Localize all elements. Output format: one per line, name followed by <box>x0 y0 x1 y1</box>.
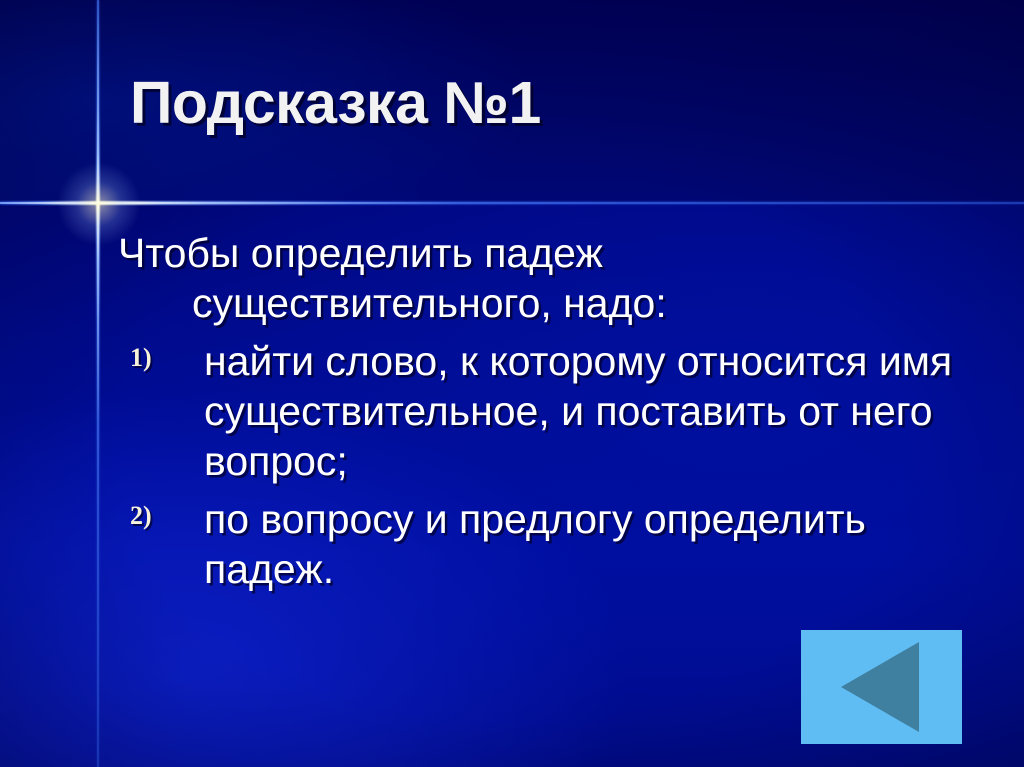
lead-paragraph: Чтобы определить падеж существительного,… <box>118 228 968 328</box>
list-item-marker: 1) <box>130 342 152 374</box>
list-item: 2) по вопросу и предлогу определить паде… <box>118 494 968 594</box>
presentation-slide: Подсказка №1 Чтобы определить падеж суще… <box>0 0 1024 767</box>
slide-body: Чтобы определить падеж существительного,… <box>118 228 968 594</box>
instruction-list: 1) найти слово, к которому относится имя… <box>118 336 968 594</box>
back-button[interactable] <box>801 630 962 744</box>
vertical-accent-highlight <box>97 0 99 767</box>
horizontal-divider-highlight <box>0 202 1024 204</box>
list-item-text: по вопросу и предлогу определить падеж. <box>204 496 866 592</box>
lead-paragraph-line-2: существительного, надо: <box>118 278 968 328</box>
lead-paragraph-line-1: Чтобы определить падеж <box>118 228 968 278</box>
back-triangle-icon <box>841 642 919 732</box>
list-item-text: найти слово, к которому относится имя су… <box>204 338 952 484</box>
list-item-marker: 2) <box>130 500 152 532</box>
slide-title: Подсказка №1 <box>130 72 960 135</box>
list-item: 1) найти слово, к которому относится имя… <box>118 336 968 486</box>
